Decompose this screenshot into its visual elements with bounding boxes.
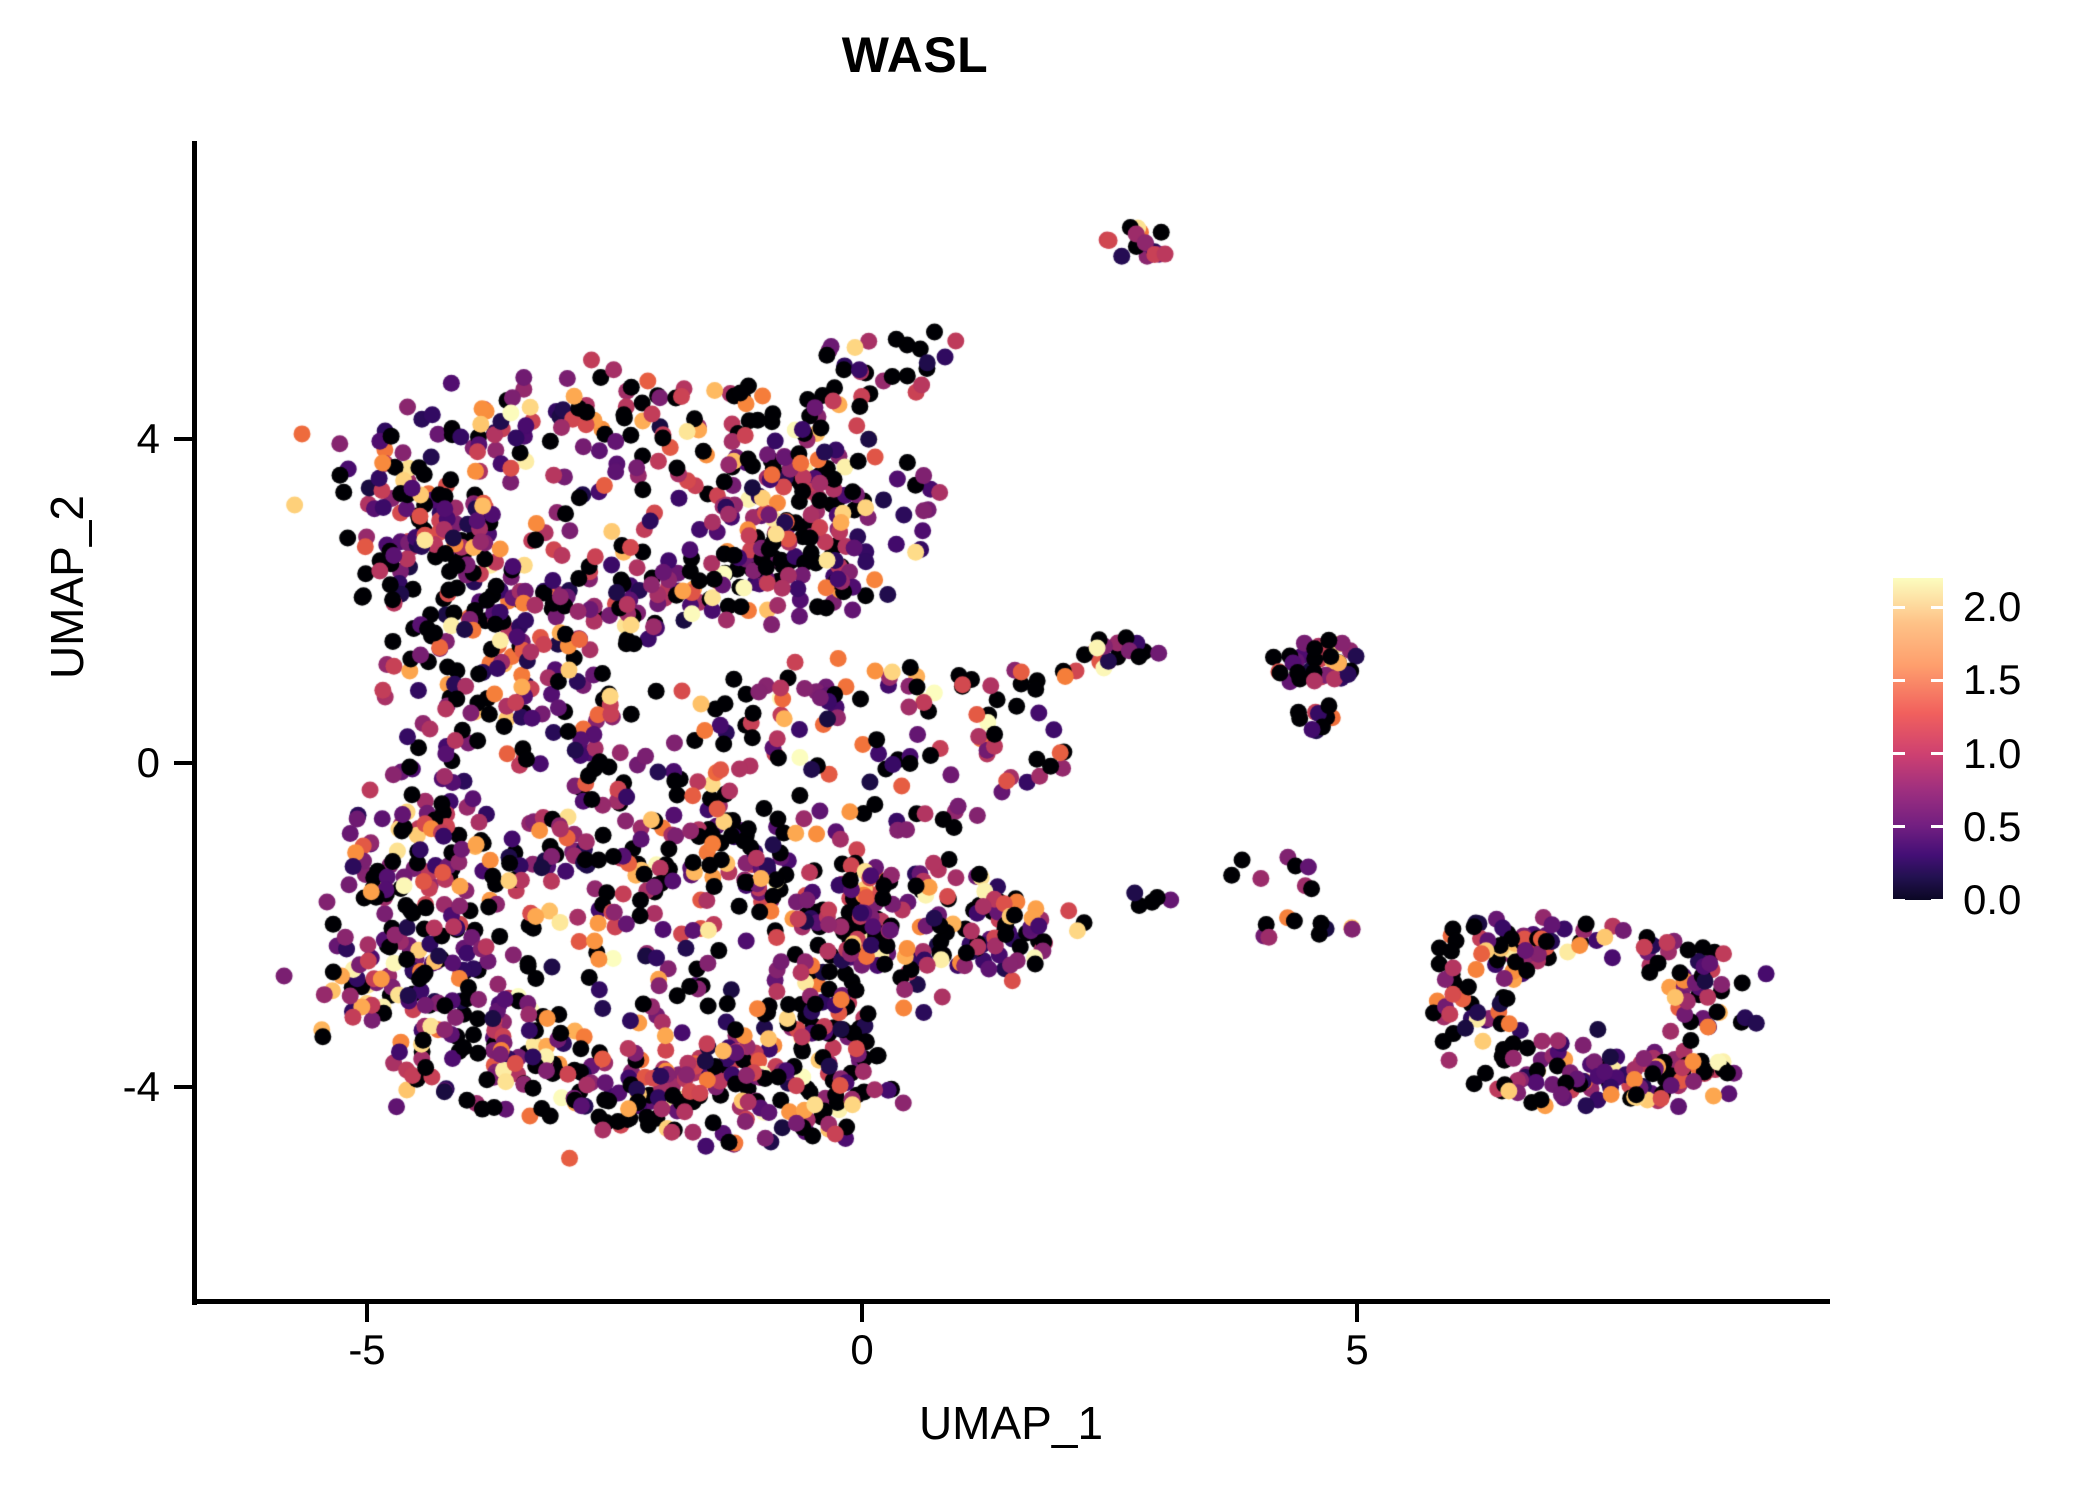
y-tick-mark bbox=[174, 1085, 192, 1089]
plot-root: WASL 40-4-505 UMAP_1 UMAP_2 2.01.51.00.5… bbox=[0, 0, 2100, 1500]
y-axis-line bbox=[192, 141, 197, 1305]
colorbar-gradient bbox=[1893, 578, 1943, 900]
x-axis-title: UMAP_1 bbox=[192, 1396, 1830, 1450]
y-axis-title: UMAP_2 bbox=[40, 267, 94, 907]
colorbar-tick-label: 0.0 bbox=[1963, 876, 2021, 924]
colorbar-tick-mark bbox=[1931, 825, 1943, 828]
colorbar-tick-label: 1.0 bbox=[1963, 730, 2021, 778]
colorbar-tick-mark bbox=[1893, 899, 1905, 902]
y-tick-mark bbox=[174, 761, 192, 765]
x-tick-mark bbox=[860, 1304, 864, 1322]
x-axis-line bbox=[192, 1299, 1830, 1304]
colorbar-tick-mark bbox=[1893, 752, 1905, 755]
x-tick-mark bbox=[365, 1304, 369, 1322]
colorbar-tick-label: 2.0 bbox=[1963, 583, 2021, 631]
colorbar-tick-mark bbox=[1893, 679, 1905, 682]
colorbar-tick-mark bbox=[1931, 899, 1943, 902]
x-tick-mark bbox=[1355, 1304, 1359, 1322]
y-tick-label: 0 bbox=[100, 739, 160, 787]
x-tick-label: 0 bbox=[850, 1326, 873, 1374]
y-tick-mark bbox=[174, 437, 192, 441]
scatter-plot-canvas bbox=[0, 0, 2100, 1500]
colorbar-tick-mark bbox=[1893, 825, 1905, 828]
colorbar-tick-label: 0.5 bbox=[1963, 803, 2021, 851]
colorbar-tick-mark bbox=[1931, 679, 1943, 682]
x-tick-label: -5 bbox=[348, 1326, 385, 1374]
colorbar-tick-mark bbox=[1893, 606, 1905, 609]
y-tick-label: -4 bbox=[100, 1063, 160, 1111]
x-tick-label: 5 bbox=[1345, 1326, 1368, 1374]
colorbar-tick-mark bbox=[1931, 752, 1943, 755]
colorbar-tick-label: 1.5 bbox=[1963, 656, 2021, 704]
colorbar-tick-mark bbox=[1931, 606, 1943, 609]
y-tick-label: 4 bbox=[100, 415, 160, 463]
